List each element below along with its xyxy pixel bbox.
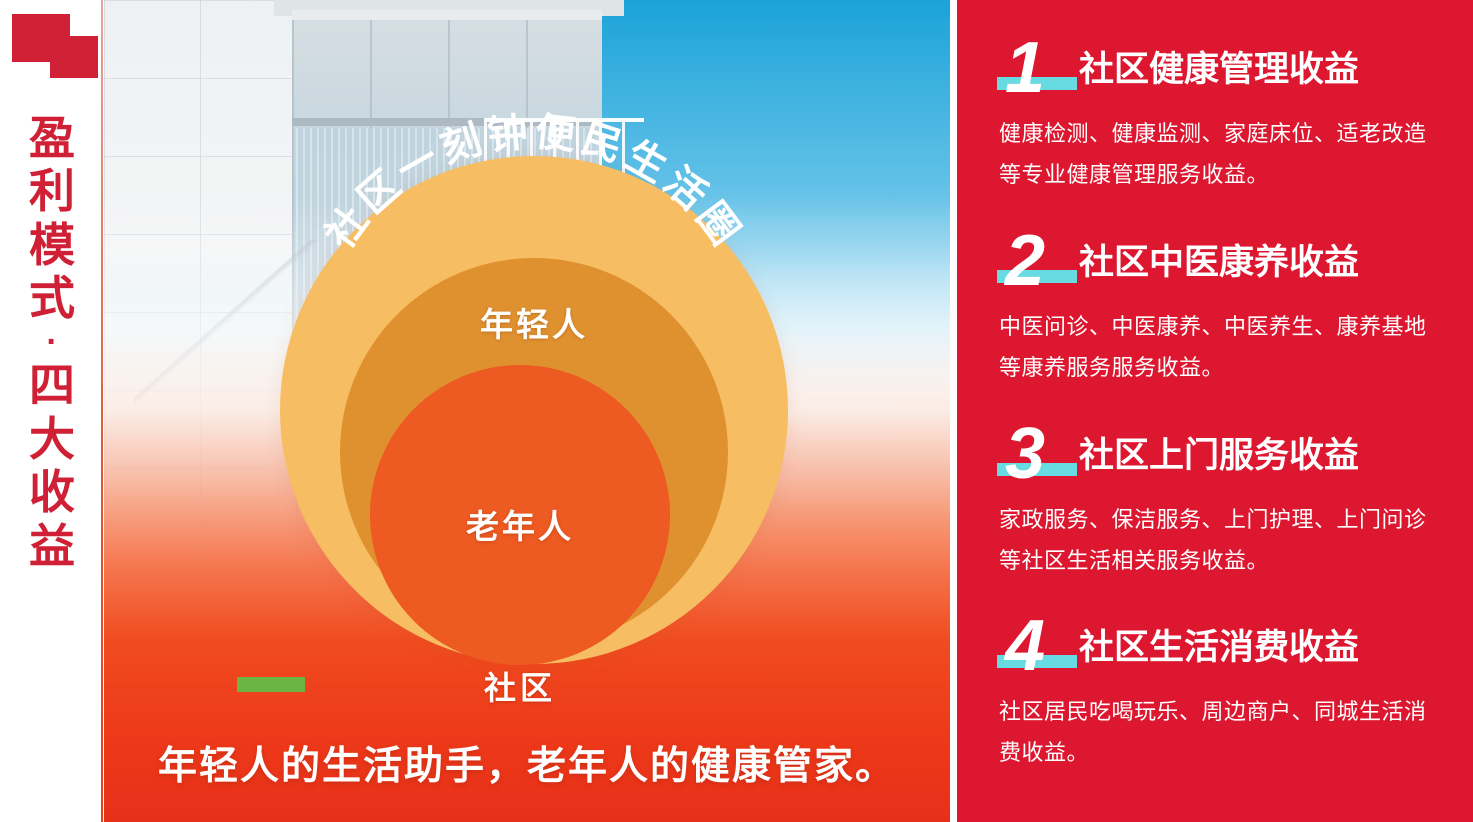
ring-label-old: 老年人 xyxy=(370,500,670,548)
vertical-page-title: 盈 利 模 式 · 四 大 收 益 xyxy=(0,112,104,573)
left-title-rail: 盈 利 模 式 · 四 大 收 益 xyxy=(0,0,104,822)
revenue-item-4-body: 社区居民吃喝玩乐、周边商户、同城生活消费收益。 xyxy=(999,692,1433,773)
revenue-item-3-number: 3 xyxy=(1005,418,1043,490)
revenue-item-3-title: 社区上门服务收益 xyxy=(1079,427,1359,478)
slide-root: 盈 利 模 式 · 四 大 收 益 xyxy=(0,0,1473,822)
vtitle-char-8: 益 xyxy=(0,520,104,573)
revenue-item-2-number-group: 2 xyxy=(997,215,1079,289)
revenue-item-1-number: 1 xyxy=(1005,32,1043,104)
rail-divider xyxy=(101,0,103,822)
vtitle-char-7: 收 xyxy=(0,466,104,519)
revenue-item-4-number: 4 xyxy=(1005,610,1043,682)
vtitle-char-1: 利 xyxy=(0,165,104,218)
vtitle-char-2: 模 xyxy=(0,219,104,272)
revenue-item-4-title: 社区生活消费收益 xyxy=(1079,619,1359,670)
revenue-item-2-title: 社区中医康养收益 xyxy=(1079,234,1359,285)
center-stage: 社区一刻钟便民生活圈 年轻人 老年人 社区 年轻人的生活助手，老年人的健康管家。 xyxy=(104,0,950,822)
revenue-item-4[interactable]: 4 社区生活消费收益 社区居民吃喝玩乐、周边商户、同城生活消费收益。 xyxy=(957,600,1473,773)
vtitle-char-4: · xyxy=(0,325,104,359)
vtitle-char-3: 式 xyxy=(0,272,104,325)
revenue-item-4-head: 4 社区生活消费收益 xyxy=(957,600,1473,676)
right-revenue-panel: 1 社区健康管理收益 健康检测、健康监测、家庭床位、适老改造等专业健康管理服务收… xyxy=(957,0,1473,822)
vtitle-char-5: 四 xyxy=(0,359,104,412)
revenue-item-1-number-group: 1 xyxy=(997,22,1079,96)
revenue-item-1-title: 社区健康管理收益 xyxy=(1079,41,1359,92)
revenue-item-2-body: 中医问诊、中医康养、中医养生、康养基地等康养服务服务收益。 xyxy=(999,307,1433,388)
revenue-item-3-number-group: 3 xyxy=(997,408,1079,482)
ring-label-young: 年轻人 xyxy=(340,298,728,346)
community-caption: 社区 xyxy=(420,663,620,709)
revenue-item-1-body: 健康检测、健康监测、家庭床位、适老改造等专业健康管理服务收益。 xyxy=(999,114,1433,195)
vtitle-char-6: 大 xyxy=(0,413,104,466)
revenue-item-2-number: 2 xyxy=(1005,225,1043,297)
revenue-item-2[interactable]: 2 社区中医康养收益 中医问诊、中医康养、中医养生、康养基地等康养服务服务收益。 xyxy=(957,215,1473,388)
revenue-item-3[interactable]: 3 社区上门服务收益 家政服务、保洁服务、上门护理、上门问诊等社区生活相关服务收… xyxy=(957,408,1473,581)
green-dash-marker xyxy=(237,677,305,692)
revenue-item-2-head: 2 社区中医康养收益 xyxy=(957,215,1473,291)
panel-gap-divider xyxy=(950,0,957,822)
tagline-text: 年轻人的生活助手，老年人的健康管家。 xyxy=(104,735,950,791)
revenue-item-4-number-group: 4 xyxy=(997,600,1079,674)
logo-square-secondary xyxy=(50,36,98,78)
revenue-item-1[interactable]: 1 社区健康管理收益 健康检测、健康监测、家庭床位、适老改造等专业健康管理服务收… xyxy=(957,22,1473,195)
vtitle-char-0: 盈 xyxy=(0,112,104,165)
revenue-item-3-head: 3 社区上门服务收益 xyxy=(957,408,1473,484)
revenue-item-3-body: 家政服务、保洁服务、上门护理、上门问诊等社区生活相关服务收益。 xyxy=(999,500,1433,581)
revenue-item-1-head: 1 社区健康管理收益 xyxy=(957,22,1473,98)
